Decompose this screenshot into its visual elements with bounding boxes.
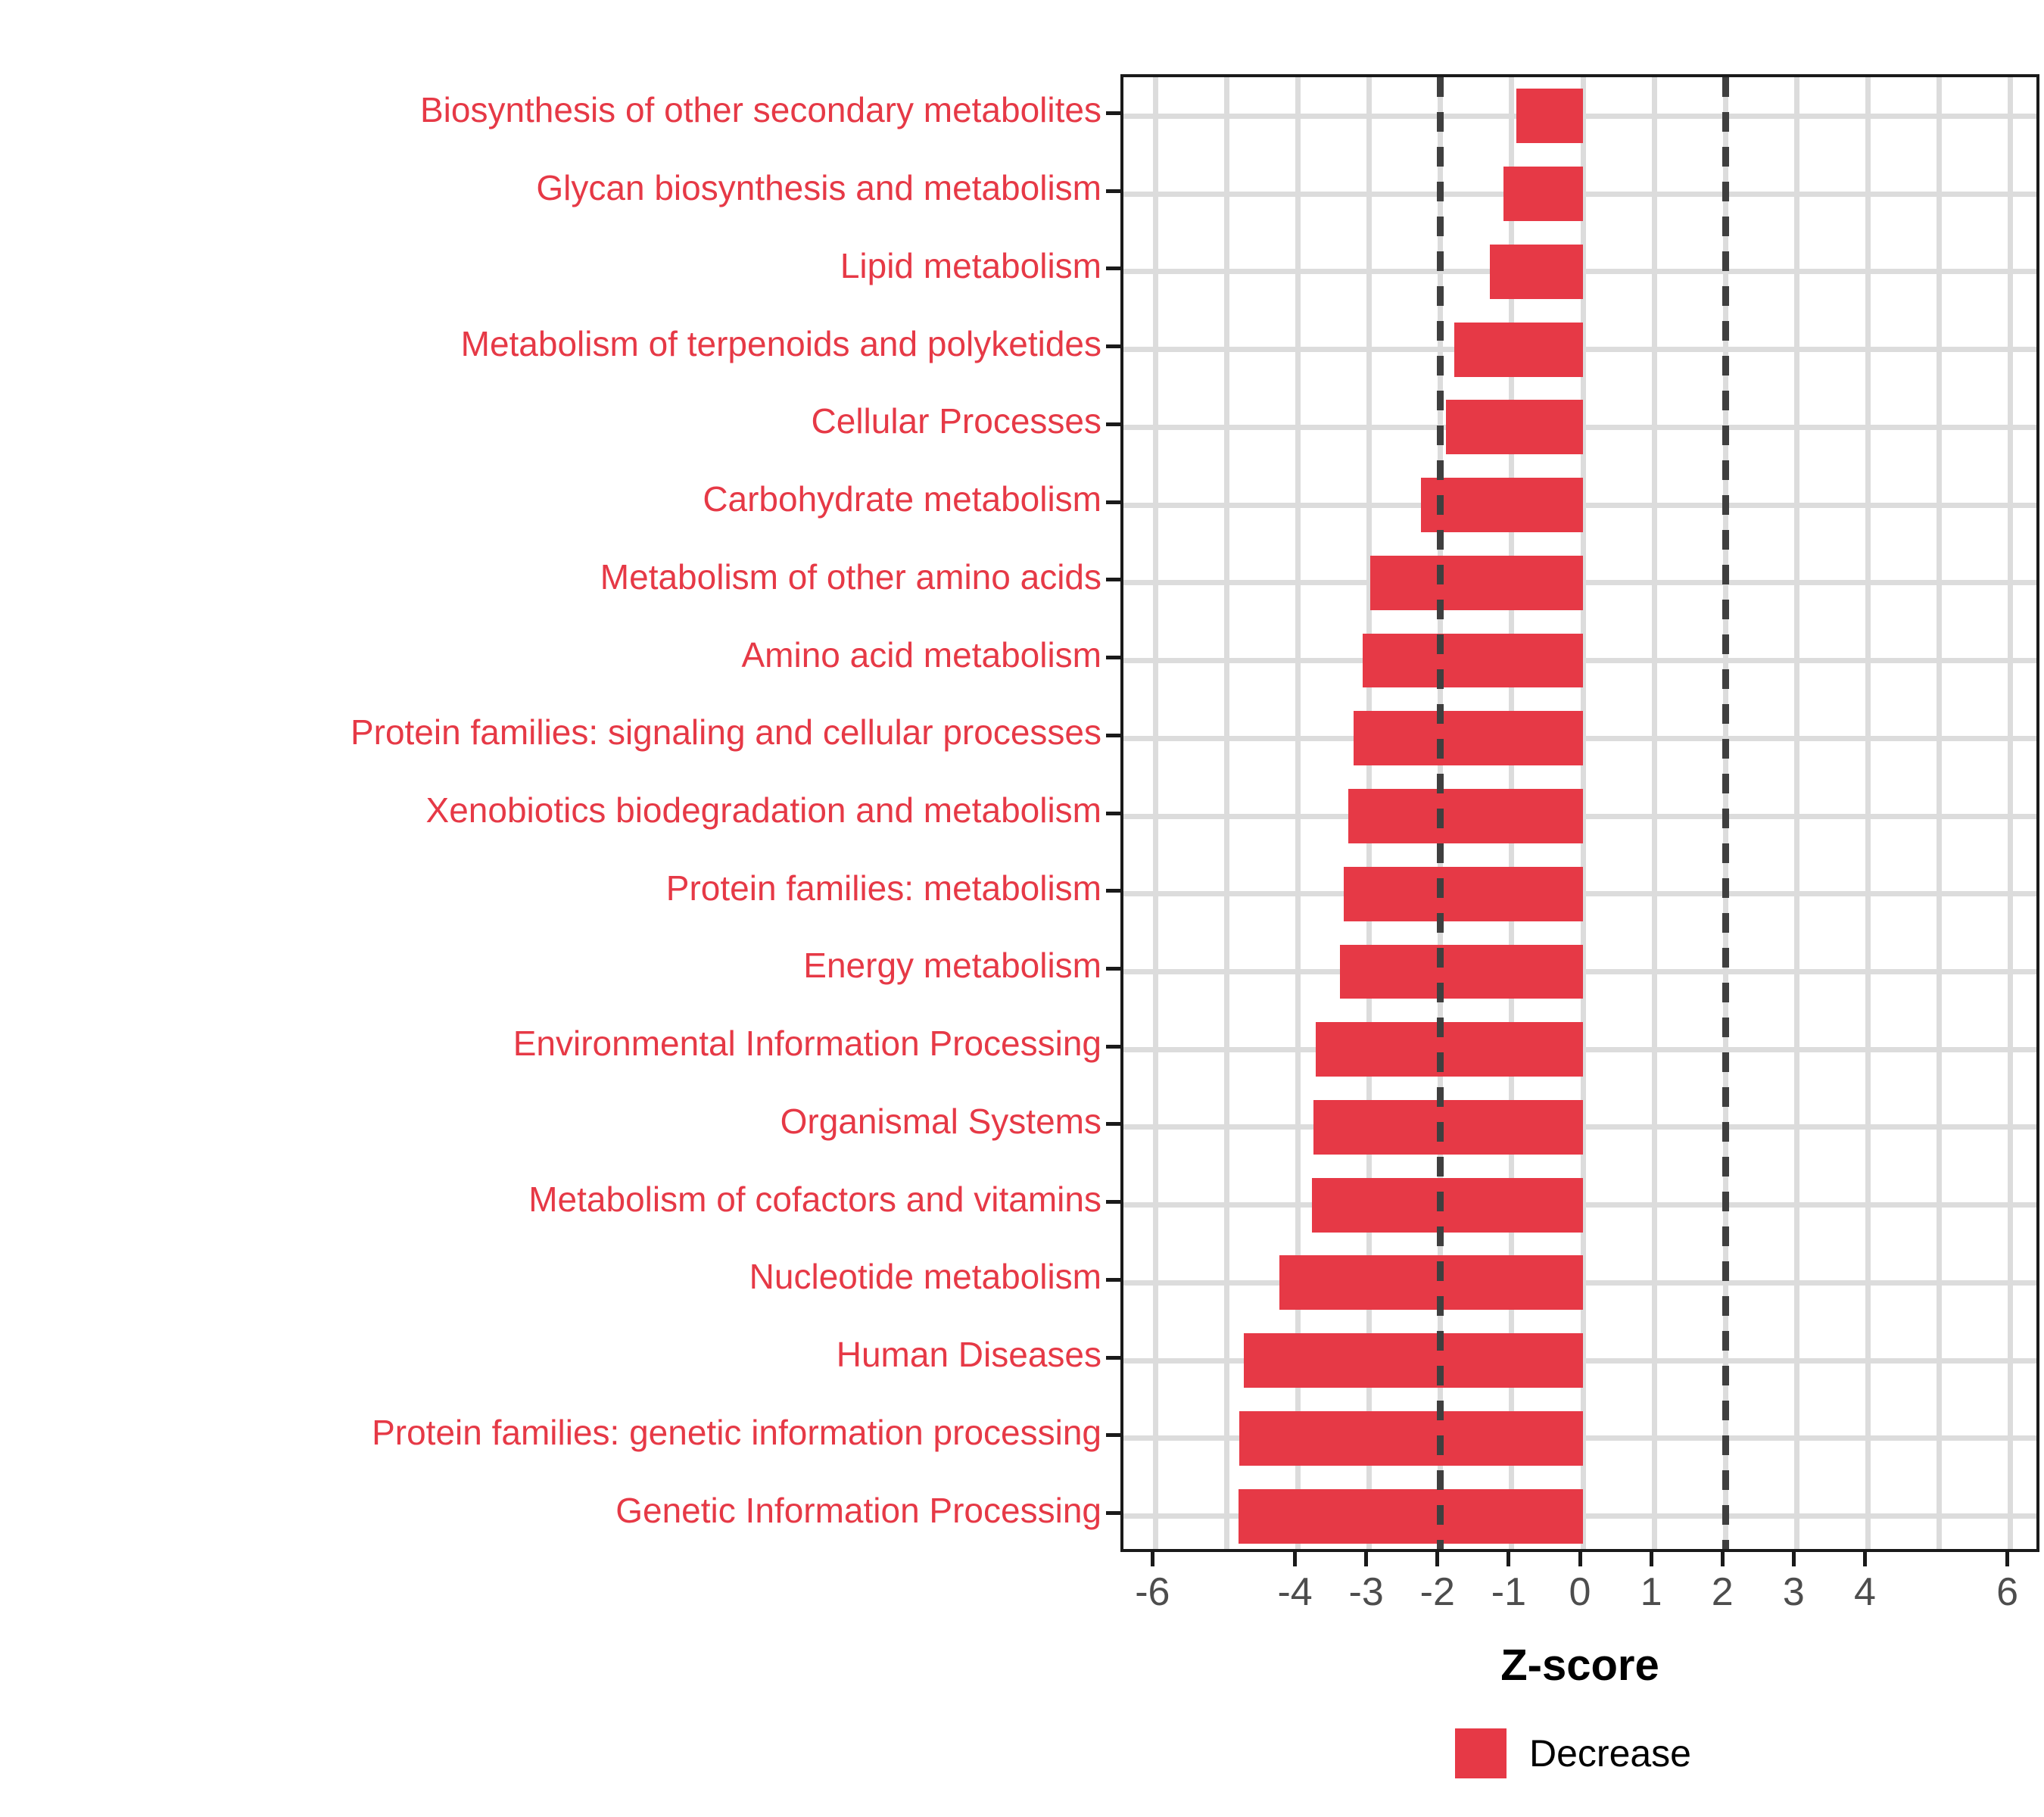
bar <box>1446 400 1583 454</box>
x-axis-tick <box>1151 1552 1154 1566</box>
y-axis-label: Metabolism of terpenoids and polyketides <box>11 326 1101 361</box>
bar <box>1516 89 1583 143</box>
y-axis-tick <box>1106 266 1120 270</box>
y-axis-tick <box>1106 812 1120 815</box>
y-axis-tick <box>1106 656 1120 659</box>
x-axis-title: Z-score <box>1120 1640 2039 1691</box>
y-axis-tick <box>1106 578 1120 581</box>
bar <box>1244 1333 1583 1388</box>
y-axis-tick <box>1106 1356 1120 1360</box>
y-axis-tick <box>1106 1511 1120 1515</box>
y-axis-tick <box>1106 422 1120 426</box>
threshold-line <box>1722 77 1729 1549</box>
y-axis-tick <box>1106 189 1120 193</box>
y-axis-label: Lipid metabolism <box>11 248 1101 283</box>
threshold-line <box>1437 77 1444 1549</box>
bar <box>1363 634 1583 688</box>
x-axis-tick <box>1863 1552 1867 1566</box>
y-axis-label: Protein families: genetic information pr… <box>11 1415 1101 1450</box>
y-axis-label: Genetic Information Processing <box>11 1493 1101 1528</box>
bar <box>1313 1100 1583 1155</box>
bar <box>1354 711 1583 765</box>
plot-panel <box>1120 74 2039 1552</box>
bar <box>1344 867 1583 921</box>
x-axis-tick <box>1578 1552 1582 1566</box>
y-axis-tick <box>1106 734 1120 737</box>
y-axis-label: Amino acid metabolism <box>11 637 1101 672</box>
y-axis-tick <box>1106 1433 1120 1437</box>
y-axis-label: Protein families: signaling and cellular… <box>11 715 1101 750</box>
y-axis-tick <box>1106 344 1120 348</box>
x-axis-tick <box>1507 1552 1510 1566</box>
y-axis-tick <box>1106 111 1120 115</box>
bar <box>1279 1255 1583 1310</box>
x-axis-tick <box>1364 1552 1368 1566</box>
y-axis-label: Biosynthesis of other secondary metaboli… <box>11 92 1101 127</box>
y-axis-tick <box>1106 967 1120 971</box>
y-axis-label: Organismal Systems <box>11 1104 1101 1139</box>
y-axis-label: Metabolism of cofactors and vitamins <box>11 1182 1101 1217</box>
y-axis-category-labels: Biosynthesis of other secondary metaboli… <box>0 0 1101 1817</box>
x-axis-tick <box>1293 1552 1297 1566</box>
bar <box>1312 1178 1583 1233</box>
x-axis-tick-label: 6 <box>1962 1570 2044 1614</box>
y-axis-tick <box>1106 889 1120 893</box>
y-axis-label: Energy metabolism <box>11 948 1101 983</box>
x-axis-tick <box>1435 1552 1439 1566</box>
legend-key-decrease <box>1455 1728 1507 1778</box>
bar <box>1348 789 1583 843</box>
y-axis-tick <box>1106 1045 1120 1049</box>
bar <box>1454 323 1583 377</box>
bar <box>1370 556 1583 610</box>
y-axis-label: Xenobiotics biodegradation and metabolis… <box>11 793 1101 827</box>
x-axis-tick-label: -6 <box>1107 1570 1198 1614</box>
x-axis-tick <box>1792 1552 1796 1566</box>
x-axis: -6-4-3-2-1012346 <box>1120 1552 2039 1650</box>
y-axis-label: Environmental Information Processing <box>11 1026 1101 1061</box>
x-axis-tick <box>2005 1552 2009 1566</box>
y-axis-tick <box>1106 1200 1120 1204</box>
y-axis-label: Cellular Processes <box>11 404 1101 438</box>
bar <box>1490 245 1583 299</box>
legend: Decrease <box>1455 1728 1691 1778</box>
legend-label-decrease: Decrease <box>1529 1734 1691 1772</box>
bar <box>1503 167 1583 221</box>
y-axis-tick <box>1106 1278 1120 1282</box>
bar <box>1421 478 1583 532</box>
bar <box>1316 1022 1583 1077</box>
y-axis-label: Metabolism of other amino acids <box>11 559 1101 594</box>
bar <box>1239 1489 1583 1544</box>
bar <box>1239 1411 1583 1466</box>
y-axis-label: Human Diseases <box>11 1337 1101 1372</box>
y-axis-label: Carbohydrate metabolism <box>11 482 1101 516</box>
x-axis-tick-label: 4 <box>1819 1570 1910 1614</box>
y-axis-label: Nucleotide metabolism <box>11 1259 1101 1294</box>
y-axis-label: Protein families: metabolism <box>11 871 1101 905</box>
y-axis-label: Glycan biosynthesis and metabolism <box>11 170 1101 205</box>
chart-root: Biosynthesis of other secondary metaboli… <box>0 0 2044 1817</box>
x-axis-tick <box>1721 1552 1725 1566</box>
x-axis-tick <box>1650 1552 1653 1566</box>
y-axis-tick <box>1106 500 1120 504</box>
y-axis-tick <box>1106 1122 1120 1126</box>
bar <box>1340 945 1583 999</box>
